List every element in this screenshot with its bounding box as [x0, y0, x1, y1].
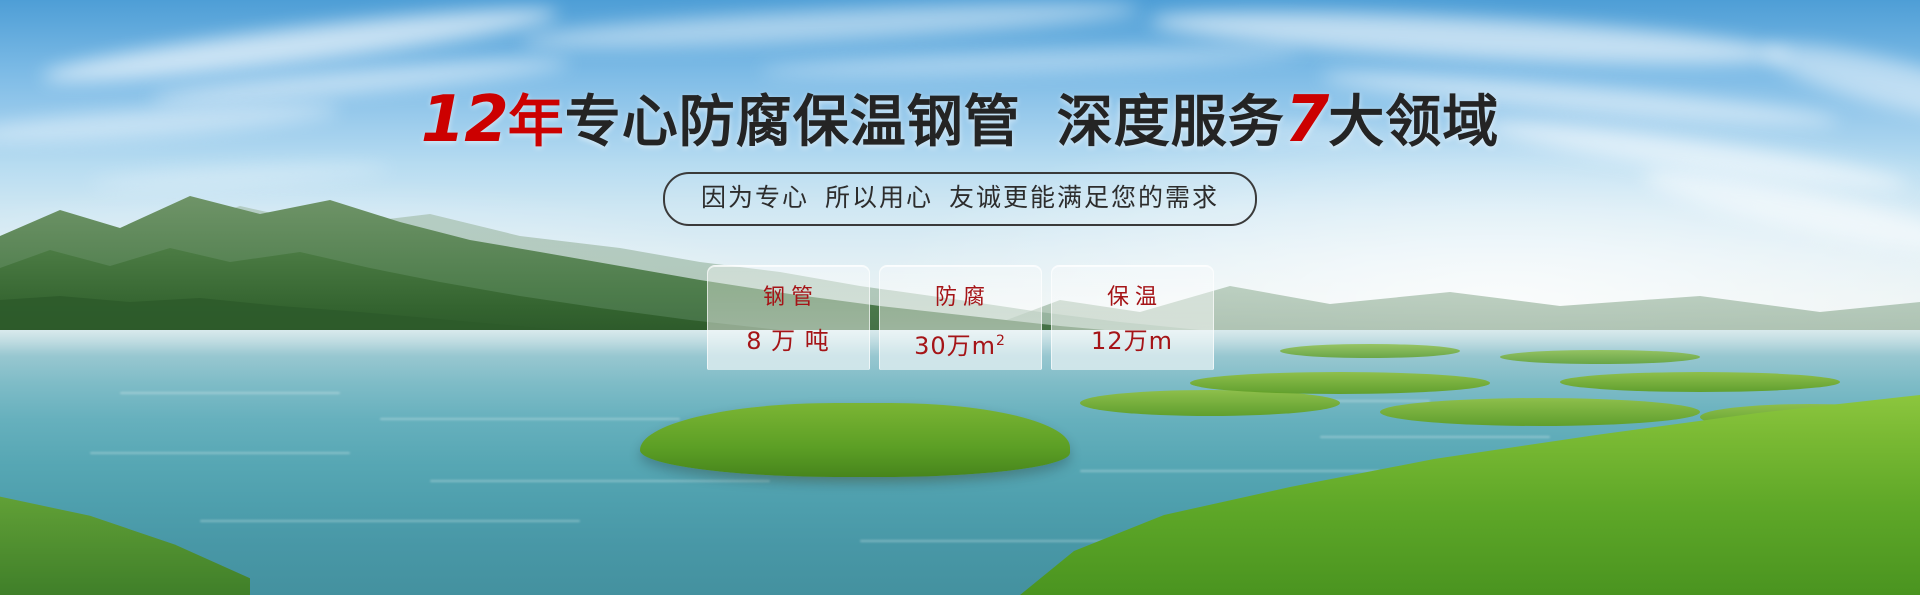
- stat-card-insulation: 保温 12万m: [1051, 265, 1214, 370]
- stat-card-label: 钢管: [757, 285, 819, 311]
- stat-card-value: 12万m: [1091, 327, 1173, 355]
- stat-card-value: 8 万 吨: [746, 327, 830, 355]
- stat-card-group: 钢管 8 万 吨 防腐 30万m2 保温 12万m: [0, 265, 1920, 370]
- banner-subtitle-pill: 因为专心所以用心友诚更能满足您的需求: [663, 172, 1257, 226]
- subtitle-part-2: 所以用心: [825, 183, 933, 212]
- stat-card-anticorrosion: 防腐 30万m2: [879, 265, 1042, 370]
- stat-card-label: 防腐: [929, 285, 991, 311]
- stat-card-value: 30万m2: [914, 327, 1006, 360]
- headline-years-unit: 年: [508, 90, 565, 155]
- stat-card-steel-pipe: 钢管 8 万 吨: [707, 265, 870, 370]
- stat-card-value-main: 8 万 吨: [746, 327, 830, 355]
- headline-fields-number: 7: [1285, 83, 1329, 157]
- headline-fields-text: 大领域: [1328, 90, 1499, 155]
- subtitle-part-1: 因为专心: [701, 183, 809, 212]
- subtitle-part-3: 友诚更能满足您的需求: [949, 183, 1219, 212]
- headline-lead-text: 专心防腐保温钢管: [565, 90, 1021, 155]
- hero-banner: 12年专心防腐保温钢管深度服务7大领域 因为专心所以用心友诚更能满足您的需求 钢…: [0, 0, 1920, 595]
- banner-content: 12年专心防腐保温钢管深度服务7大领域 因为专心所以用心友诚更能满足您的需求 钢…: [0, 0, 1920, 595]
- stat-card-value-main: 12万m: [1091, 327, 1173, 355]
- headline-service-text: 深度服务: [1057, 90, 1285, 155]
- stat-card-value-main: 30万m: [914, 332, 996, 360]
- banner-subtitle-wrap: 因为专心所以用心友诚更能满足您的需求: [0, 172, 1920, 226]
- stat-card-label: 保温: [1101, 285, 1163, 311]
- headline-years-number: 12: [421, 83, 508, 157]
- banner-headline: 12年专心防腐保温钢管深度服务7大领域: [0, 88, 1920, 155]
- stat-card-value-superscript: 2: [996, 333, 1006, 349]
